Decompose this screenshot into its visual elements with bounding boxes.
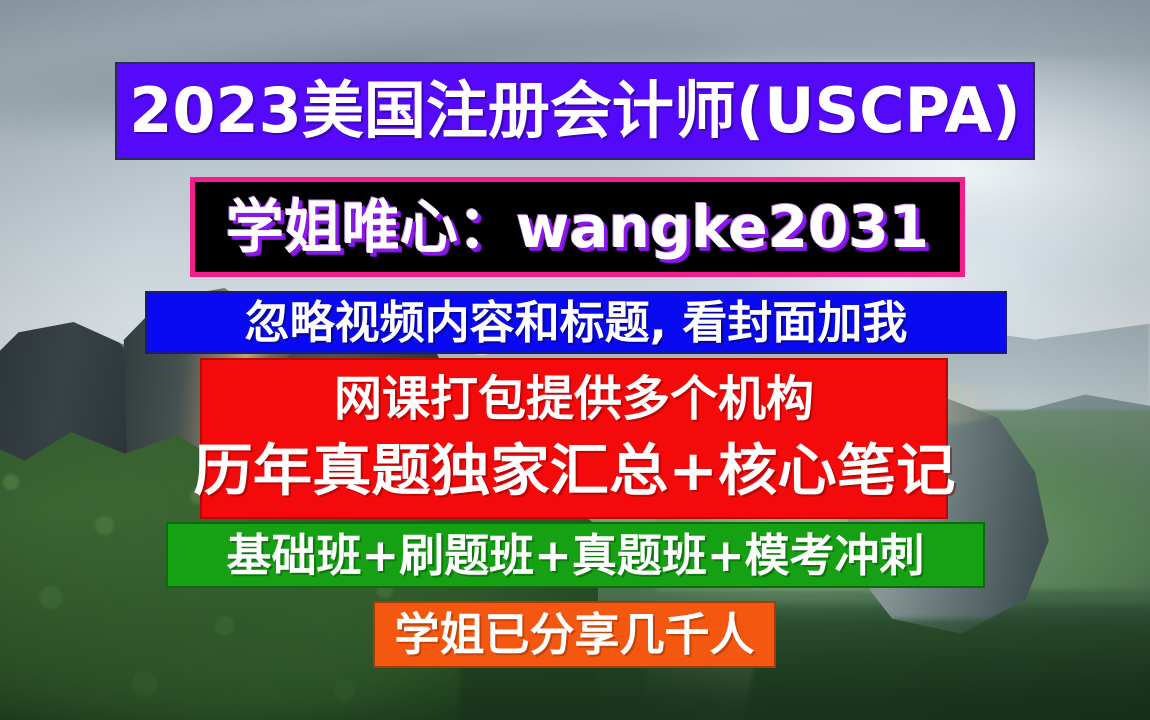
contact-banner-text: 学姐唯心：wangke2031 [226,198,929,256]
thumbnail-canvas: 2023美国注册会计师(USCPA) 学姐唯心：wangke2031 忽略视频内… [0,0,1150,720]
shared-count-banner: 学姐已分享几千人 [373,601,776,668]
title-banner-text: 2023美国注册会计师(USCPA) [129,80,1020,142]
offer-banner-line-1: 网课打包提供多个机构 [334,375,814,423]
shared-count-banner-text: 学姐已分享几千人 [394,612,754,657]
title-banner: 2023美国注册会计师(USCPA) [115,62,1035,160]
notice-banner-text: 忽略视频内容和标题, 看封面加我 [245,300,908,345]
notice-banner: 忽略视频内容和标题, 看封面加我 [145,291,1007,354]
classes-banner-text: 基础班+刷题班+真题班+模考冲刺 [226,533,924,578]
contact-banner: 学姐唯心：wangke2031 [190,177,965,277]
offer-banner-line-2: 历年真题独家汇总+核心笔记 [193,444,955,500]
offer-banner: 网课打包提供多个机构 历年真题独家汇总+核心笔记 [200,358,948,519]
classes-banner: 基础班+刷题班+真题班+模考冲刺 [166,522,985,588]
